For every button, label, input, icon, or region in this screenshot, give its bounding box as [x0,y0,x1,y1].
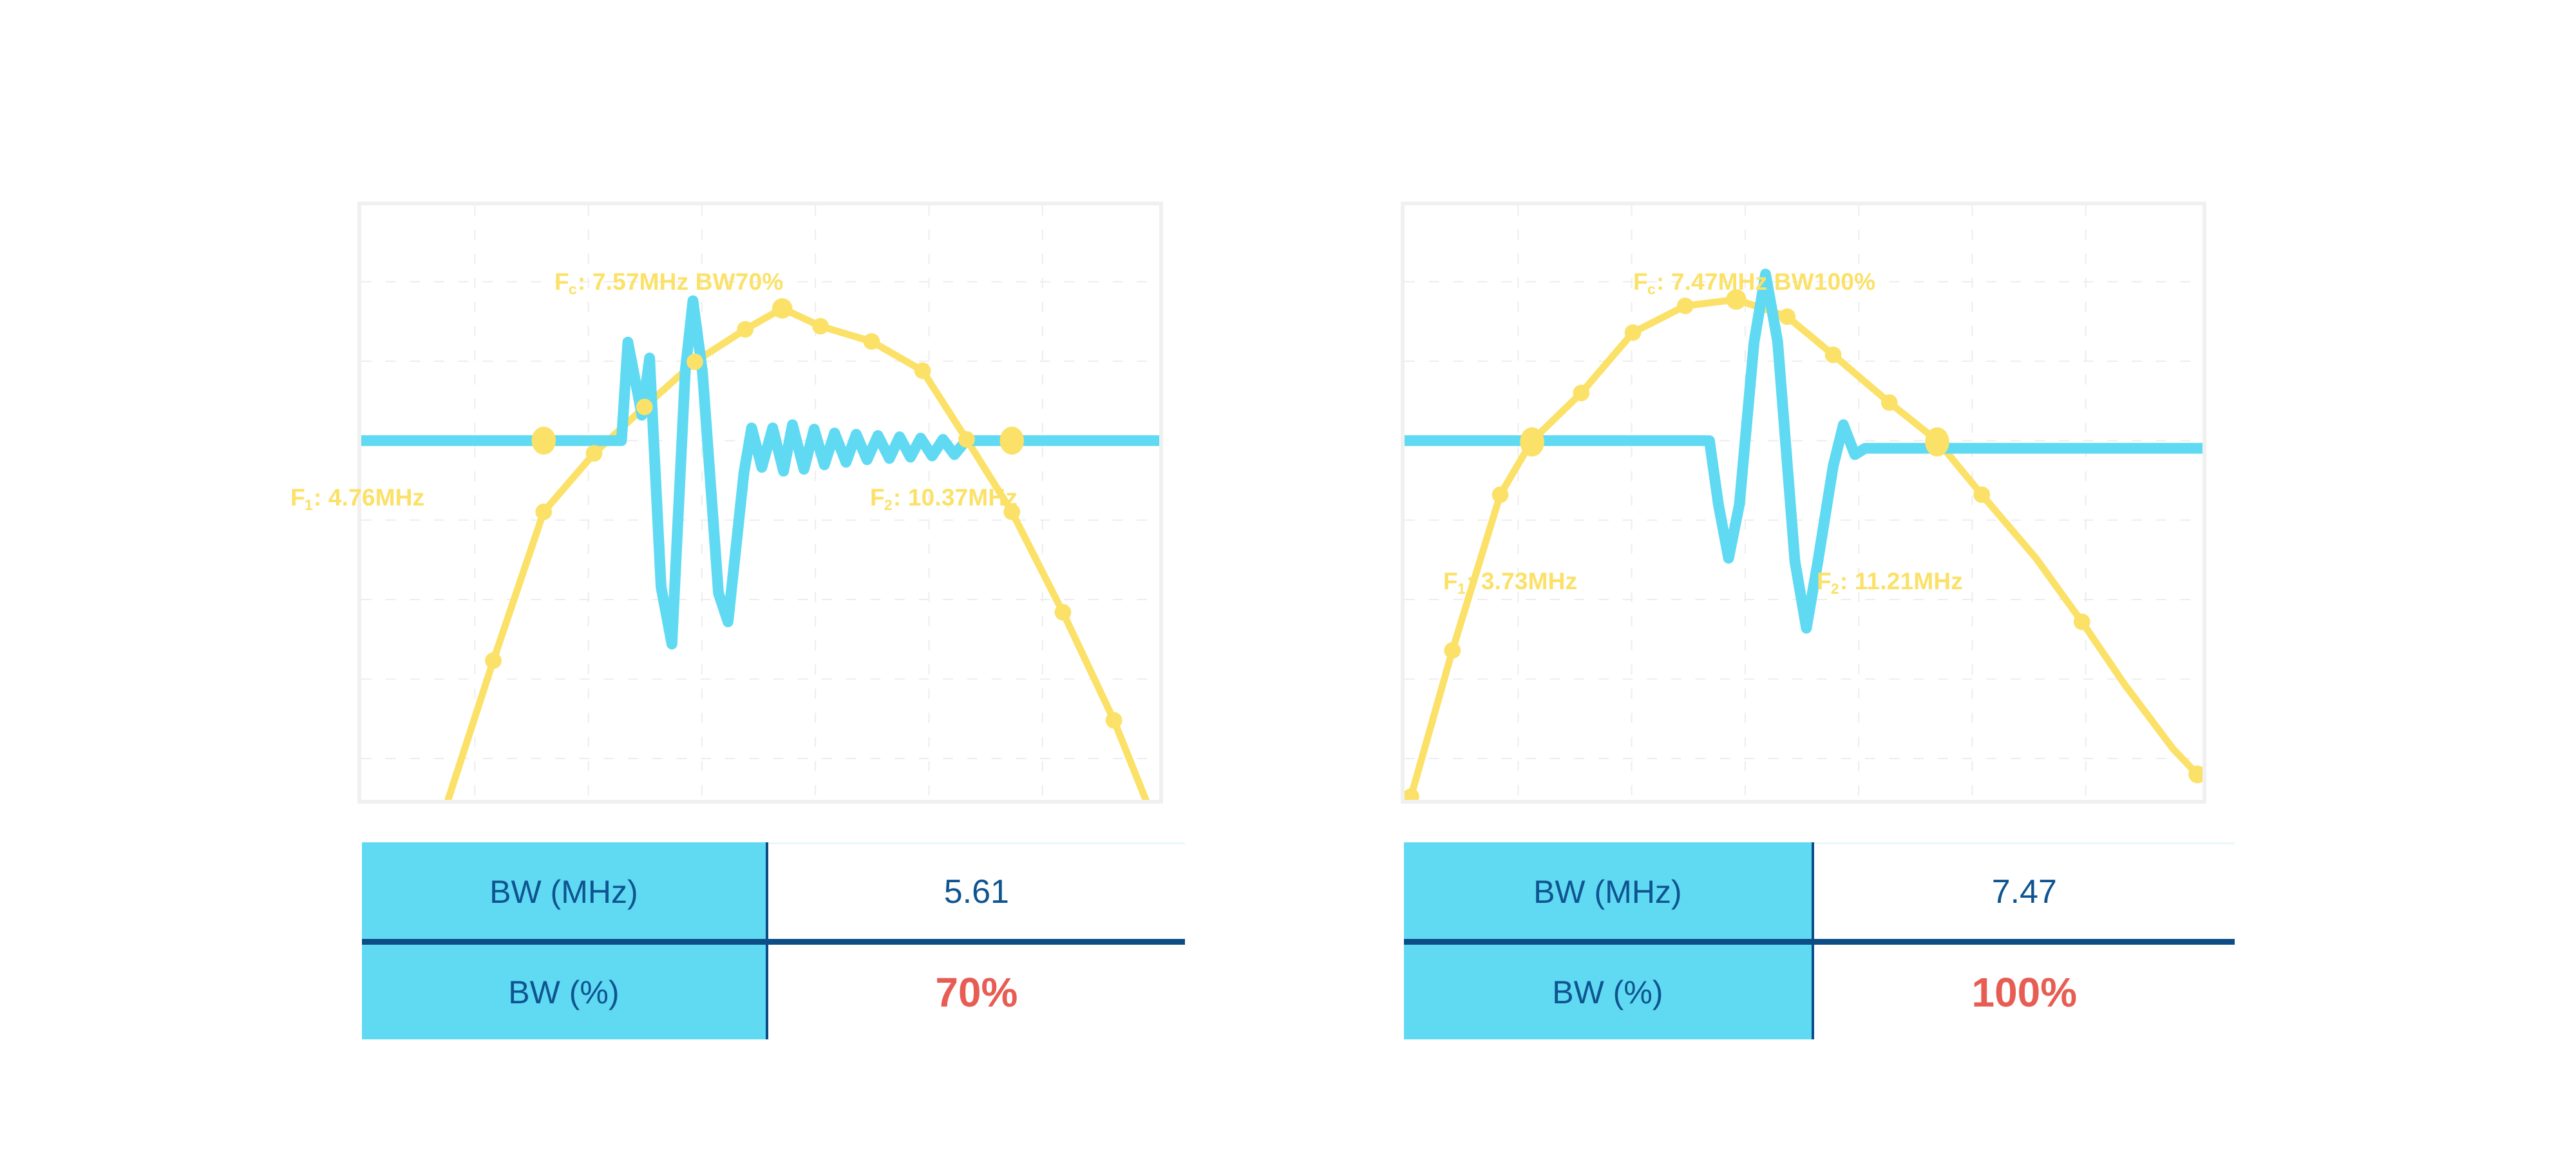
spectrum-curve-right [1405,299,2197,800]
bw-mhz-label-left: BW (MHz) [362,844,767,942]
table-row: BW (MHz) 5.61 [362,844,1185,942]
f2-subscript-right: 2 [1831,580,1839,597]
panel-right: Fc: 7.47MHz BW100% F1: 3.73MHz F2: 11.21… [1401,202,2206,804]
bw-mhz-label-right: BW (MHz) [1404,844,1813,942]
annotation-center-frequency-left: Fc: 7.57MHz BW70% [554,270,783,294]
bw-mhz-value-right: 7.47 [1813,844,2235,942]
f1-crossing-marker-left [531,427,556,455]
f2-prefix-right: F [1817,568,1832,594]
fc-text-right: : 7.47MHz BW100% [1656,269,1875,295]
chart-frame-right: Fc: 7.47MHz BW100% F1: 3.73MHz F2: 11.21… [1401,202,2206,804]
pulse-waveform-left [361,301,1159,644]
bw-pct-value-left: 70% [767,942,1185,1040]
panel-left: Fc: 7.57MHz BW70% F1: 4.76MHz F2: 10.37M… [357,202,1163,804]
f1-prefix-right: F [1443,568,1458,594]
spectrum-curve-left [431,308,1152,800]
f2-subscript-left: 2 [884,497,893,513]
bandwidth-table-left: BW (MHz) 5.61 BW (%) 70% [362,842,1185,1039]
f2-crossing-marker-left [999,427,1024,455]
annotation-f1-left: F1: 4.76MHz [290,486,424,509]
f2-text-right: : 11.21MHz [1840,568,1963,594]
annotation-f2-left: F2: 10.37MHz [870,486,1018,509]
annotation-center-frequency-right: Fc: 7.47MHz BW100% [1633,270,1875,294]
annotation-f2-right: F2: 11.21MHz [1817,569,1963,593]
f2-text-left: : 10.37MHz [893,484,1018,511]
f1-prefix-left: F [290,484,305,511]
spectrum-markers-left [435,298,1122,800]
spectrum-markers-right [1405,289,2202,800]
f1-subscript-left: 1 [305,497,313,513]
f1-subscript-right: 1 [1457,580,1466,597]
figure-canvas: Fc: 7.57MHz BW70% F1: 4.76MHz F2: 10.37M… [0,0,2576,1154]
f1-text-right: : 3.73MHz [1466,568,1577,594]
fc-text-left: : 7.57MHz BW70% [578,269,784,295]
table-row: BW (%) 70% [362,942,1185,1040]
table-row: BW (MHz) 7.47 [1404,844,2235,942]
f1-text-left: : 4.76MHz [314,484,424,511]
fc-prefix-right: F [1633,269,1648,295]
bw-pct-label-right: BW (%) [1404,942,1813,1040]
fc-subscript-left: c [569,281,577,298]
bw-mhz-value-left: 5.61 [767,844,1185,942]
fc-subscript-right: c [1647,281,1656,298]
annotation-f1-right: F1: 3.73MHz [1443,569,1577,593]
chart-frame-left: Fc: 7.57MHz BW70% F1: 4.76MHz F2: 10.37M… [357,202,1163,804]
f2-crossing-marker-right [1925,428,1949,457]
table-row: BW (%) 100% [1404,942,2235,1040]
f2-prefix-left: F [870,484,885,511]
f1-crossing-marker-right [1520,428,1544,457]
bw-pct-label-left: BW (%) [362,942,767,1040]
bandwidth-table-right: BW (MHz) 7.47 BW (%) 100% [1404,842,2235,1039]
fc-prefix-left: F [554,269,569,295]
bw-pct-value-right: 100% [1813,942,2235,1040]
